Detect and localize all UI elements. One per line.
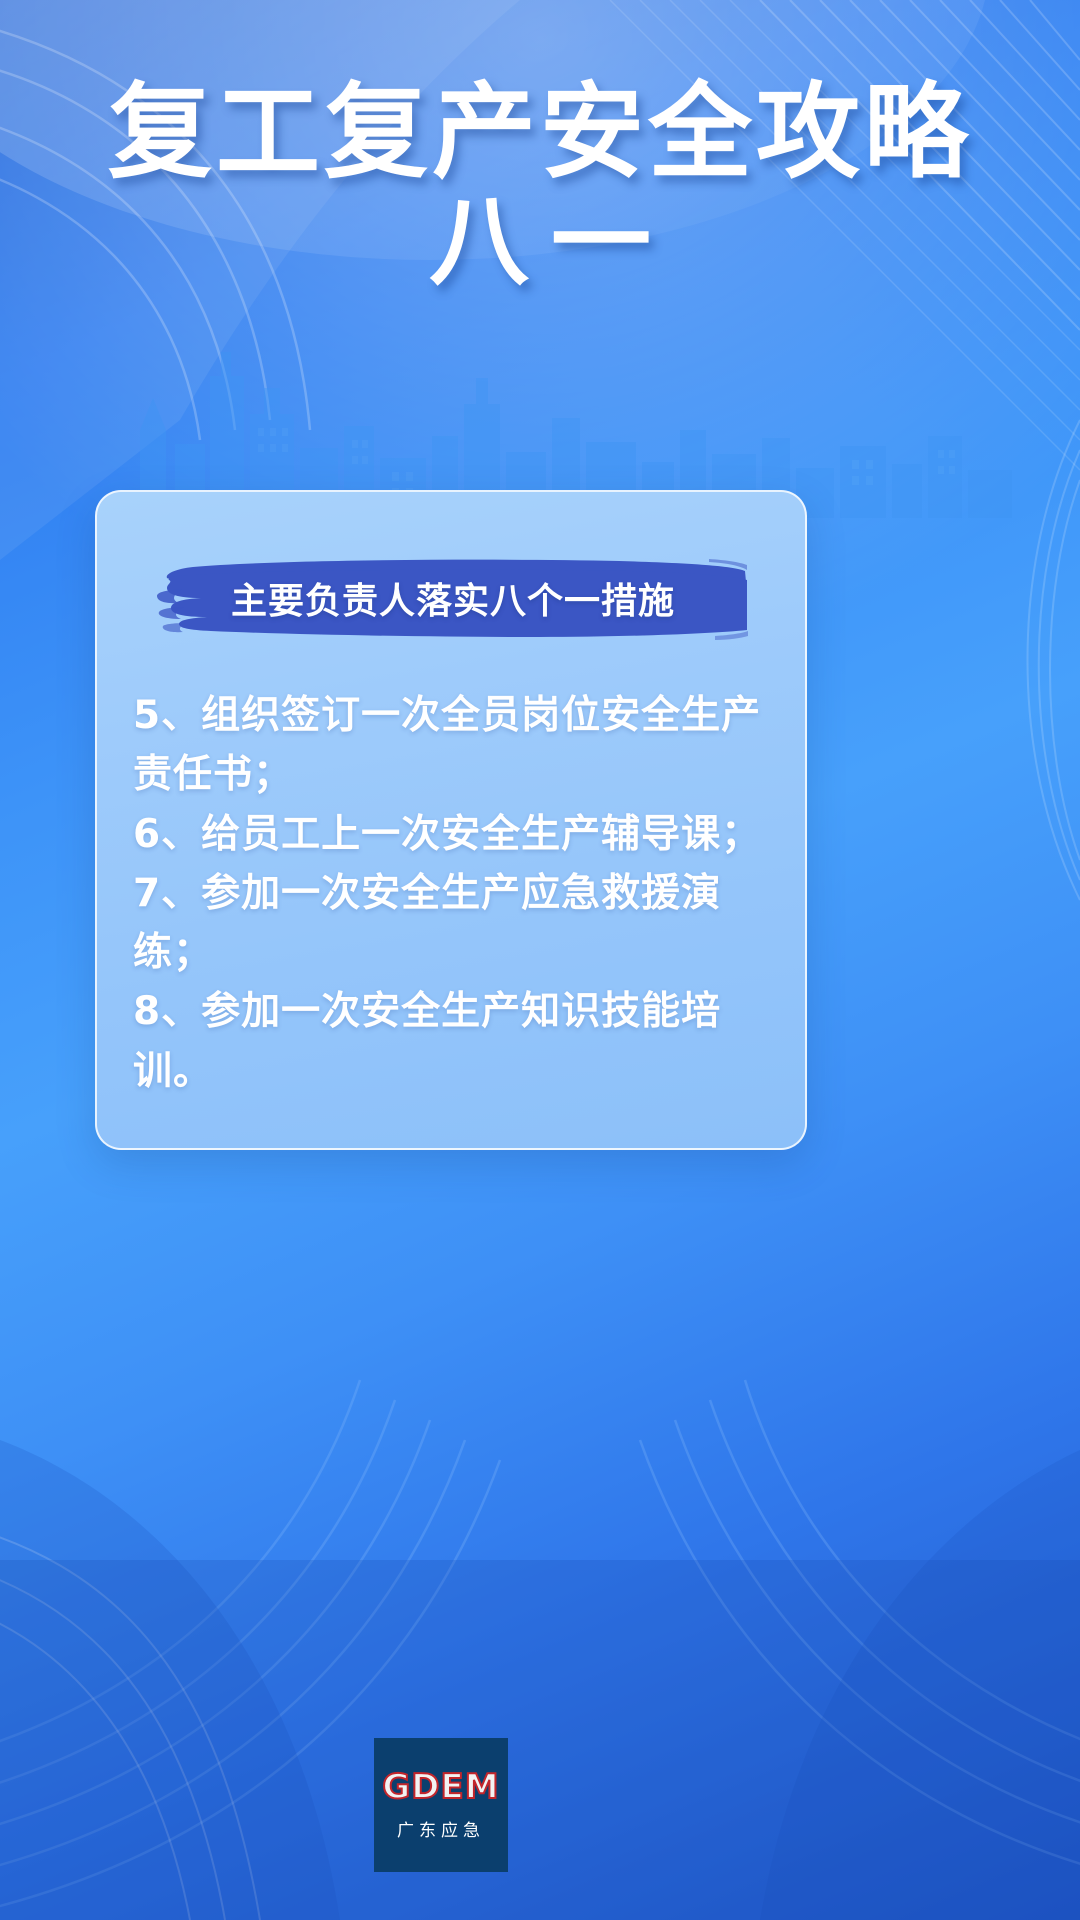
list-item: 8、参加一次安全生产知识技能培训。: [133, 982, 777, 1101]
gdem-logo: GDEM 广东应急: [374, 1738, 508, 1872]
section-banner-label: 主要负责人落实八个一措施: [97, 552, 807, 644]
list-item: 5、组织签订一次全员岗位安全生产责任书；: [133, 686, 777, 805]
section-banner: 主要负责人落实八个一措施: [97, 552, 805, 644]
list-item: 7、参加一次安全生产应急救援演练；: [133, 864, 777, 983]
logo-subtitle: 广东应急: [397, 1816, 485, 1841]
page-subtitle: 八一: [0, 186, 1080, 292]
poster-header: 复工复产安全攻略 八一: [0, 0, 1080, 292]
city-skyline-silhouette: [0, 318, 1080, 518]
measures-list: 5、组织签订一次全员岗位安全生产责任书； 6、给员工上一次安全生产辅导课； 7、…: [97, 686, 805, 1101]
logo-wordmark: GDEM: [382, 1770, 499, 1804]
content-card: 主要负责人落实八个一措施 5、组织签订一次全员岗位安全生产责任书； 6、给员工上…: [95, 490, 807, 1150]
poster-background: 复工复产安全攻略 八一 主要负责人落实八个一措施 5、组织签订一次全员岗位安全生…: [0, 0, 1080, 1920]
list-item: 6、给员工上一次安全生产辅导课；: [133, 805, 777, 864]
page-title: 复工复产安全攻略: [0, 0, 1080, 186]
